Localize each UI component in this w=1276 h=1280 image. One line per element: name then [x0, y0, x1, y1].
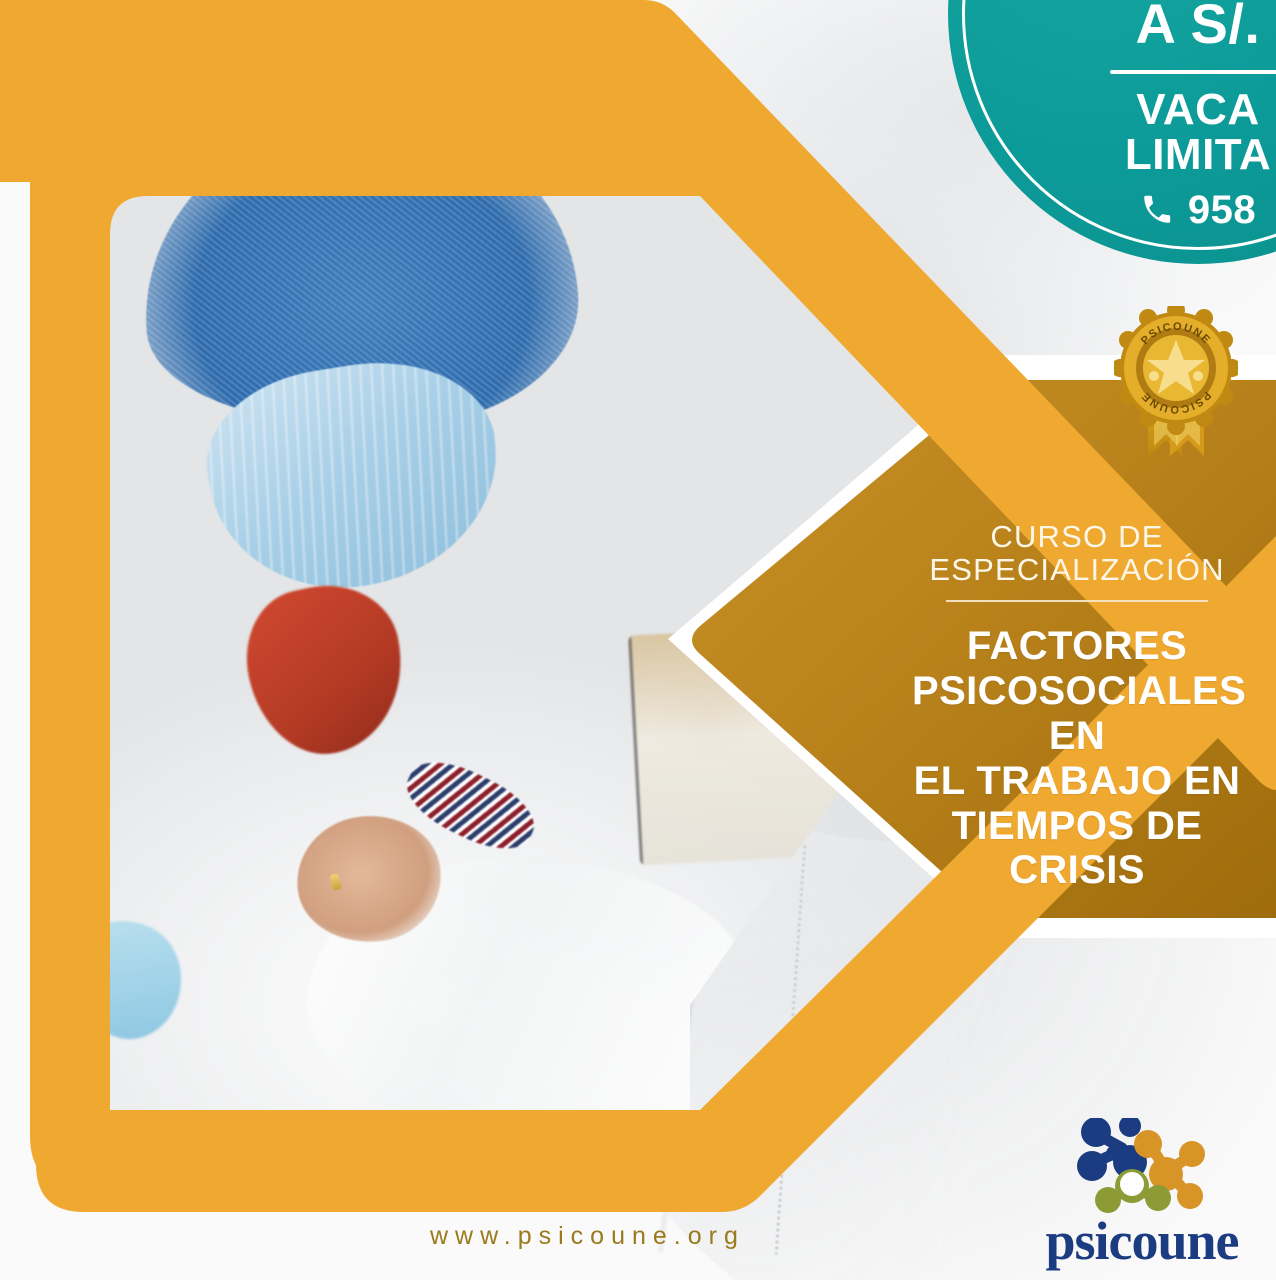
node-blue-1 [1081, 1118, 1111, 1147]
headline-line-4: TIEMPOS DE [912, 804, 1242, 849]
teal-price-badge[interactable]: A S/. VACA LIMITA 958 [948, 0, 1276, 264]
title-block: CURSO DE ESPECIALIZACIÓN FACTORES PSICOS… [912, 520, 1242, 893]
node-orange-3 [1179, 1141, 1205, 1167]
vacancy-line-1: VACA [976, 88, 1276, 133]
kicker-divider [946, 600, 1208, 602]
node-orange-4 [1177, 1183, 1203, 1209]
price-text: A S/. [976, 0, 1276, 52]
logo-wordmark: psicoune [1026, 1214, 1258, 1268]
headline-line-5: CRISIS [912, 848, 1242, 893]
node-blue-3 [1077, 1151, 1107, 1181]
kicker-line-2: ESPECIALIZACIÓN [912, 553, 1242, 586]
frame-left-bar [30, 72, 716, 1188]
vacancy-line-2: LIMITA [976, 133, 1276, 178]
brand-logo[interactable]: psicoune [1026, 1118, 1258, 1270]
node-orange-1 [1134, 1130, 1162, 1158]
phone-row[interactable]: 958 [976, 188, 1276, 233]
seal-dot-left [1149, 371, 1159, 381]
node-olive-3 [1145, 1185, 1171, 1211]
award-seal: PSICOUNE PSICOUNE [1114, 306, 1238, 484]
headline-line-3: EL TRABAJO EN [912, 759, 1242, 804]
seal-dot-right [1193, 371, 1203, 381]
node-center-hole [1120, 1172, 1144, 1196]
headline-line-2: PSICOSOCIALES EN [912, 669, 1242, 759]
phone-icon [1140, 193, 1174, 227]
kicker-line-1: CURSO DE [912, 520, 1242, 553]
price-divider [1110, 70, 1276, 74]
badge-content: A S/. VACA LIMITA 958 [948, 0, 1276, 233]
promotional-poster: CURSO DE ESPECIALIZACIÓN FACTORES PSICOS… [0, 0, 1276, 1280]
website-url[interactable]: www.psicoune.org [430, 1222, 745, 1251]
node-blue-2 [1119, 1118, 1141, 1137]
headline-line-1: FACTORES [912, 624, 1242, 669]
phone-number: 958 [1188, 188, 1256, 233]
